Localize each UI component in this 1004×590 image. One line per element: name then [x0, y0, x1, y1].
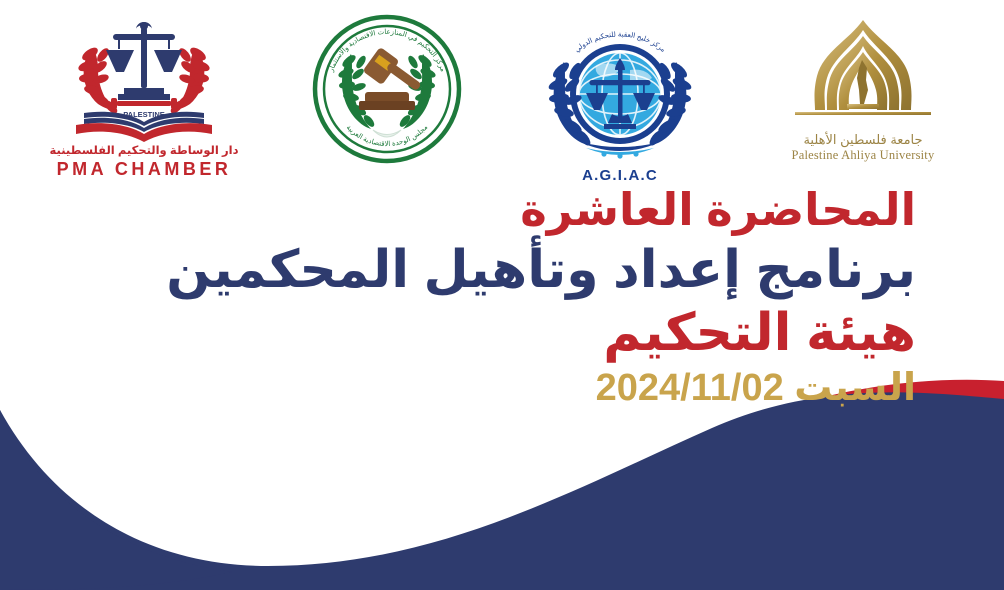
scales-icon [106, 22, 182, 100]
slide-canvas: PALESTINE دار الوساطة والتحكيم الفلسطيني… [0, 0, 1004, 590]
pma-arabic-name: دار الوساطة والتحكيم الفلسطينية [50, 143, 239, 157]
lecture-number-text: المحاضرة العاشرة [0, 186, 916, 234]
ahliya-english-name: Palestine Ahliya University [792, 148, 935, 163]
logo-agiac: مركز خليج العقبة للتحكيم الدولي [532, 14, 708, 184]
gavel-green-seal-logo: مركز التحكيم في المنازعات الاقتصادية وال… [311, 14, 463, 164]
logo-pma-chamber: PALESTINE دار الوساطة والتحكيم الفلسطيني… [46, 14, 242, 180]
lecture-date-text: السبت 2024/11/02 [0, 368, 916, 410]
pma-english-name: PMA CHAMBER [57, 159, 232, 180]
date-value-text: 2024/11/02 [596, 368, 784, 410]
logo-palestine-ahliya-university: جامعة فلسطين الأهلية Palestine Ahliya Un… [768, 14, 958, 163]
ahliya-arabic-name: جامعة فلسطين الأهلية [803, 132, 922, 148]
gavel-icon [359, 47, 422, 110]
logo-strip: PALESTINE دار الوساطة والتحكيم الفلسطيني… [0, 14, 1004, 194]
topic-title-text: هيئة التحكيم [0, 305, 916, 362]
scales-of-justice-book-laurel-logo: PALESTINE [54, 14, 234, 142]
wave-red-shape [0, 380, 1004, 590]
program-title-text: برنامج إعداد وتأهيل المحكمين [0, 242, 916, 299]
wave-navy-shape [0, 392, 1004, 590]
logo-arab-economic-unity-arbitration-council: مركز التحكيم في المنازعات الاقتصادية وال… [302, 14, 472, 164]
agiac-english-name: A.G.I.A.C [582, 167, 658, 184]
globe-scales-laurel-blue-logo: مركز خليج العقبة للتحكيم الدولي [534, 14, 706, 166]
wave-navy-corner-shape [0, 410, 232, 590]
gold-dome-arch-logo [773, 14, 953, 134]
date-weekday-text: السبت [794, 367, 916, 409]
headline-block: المحاضرة العاشرة برنامج إعداد وتأهيل الم… [0, 186, 1004, 410]
